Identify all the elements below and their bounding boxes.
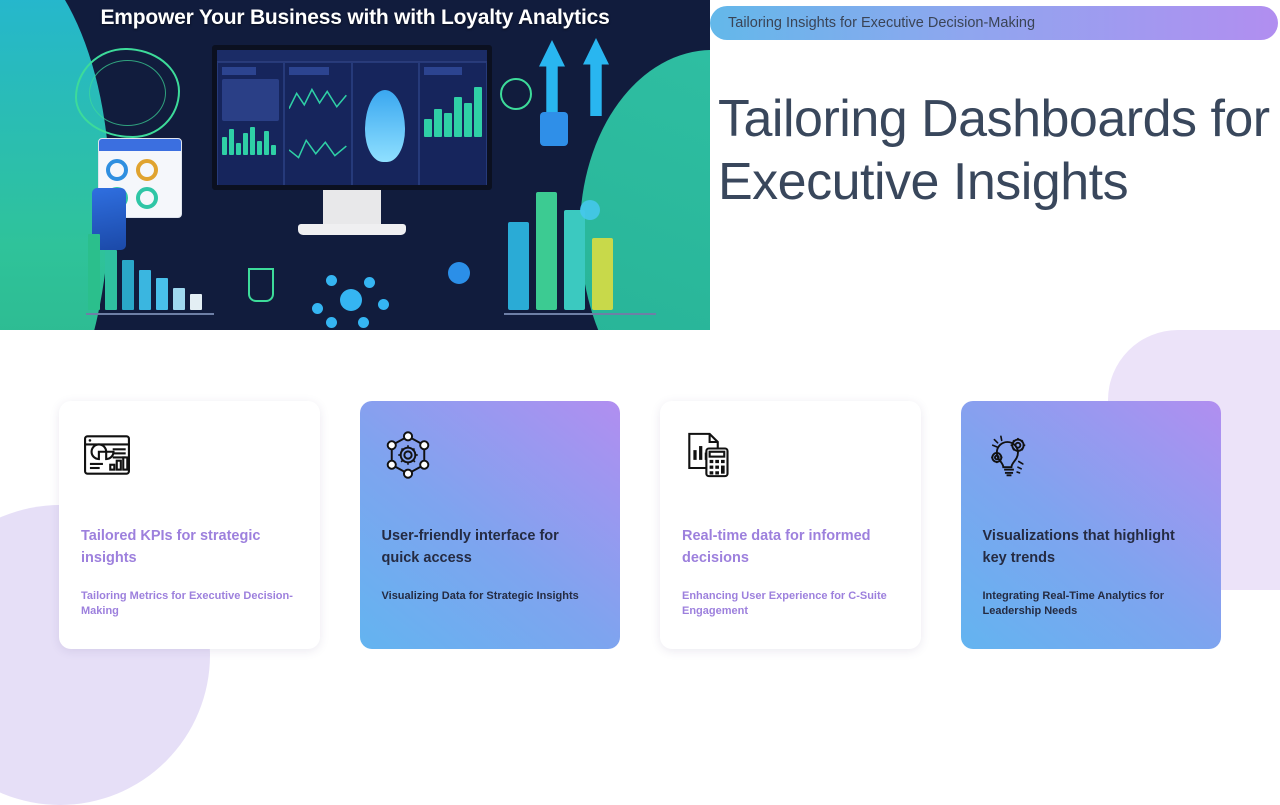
avatar-tile-graphic: [540, 112, 568, 146]
feature-card-3[interactable]: Real-time data for informed decisions En…: [660, 401, 921, 649]
arrow-up-graphic-1: [539, 40, 565, 118]
feature-card-2-subtitle: Visualizing Data for Strategic Insights: [382, 589, 599, 604]
dashboard-chart-window-icon: [81, 429, 133, 481]
flower-accent-graphic: [580, 200, 600, 220]
feature-card-4[interactable]: Visualizations that highlight key trends…: [961, 401, 1222, 649]
feature-card-4-subtitle: Integrating Real-Time Analytics for Lead…: [983, 589, 1200, 619]
hero-illustration: Empower Your Business with with Loyalty …: [0, 0, 710, 330]
feature-card-1[interactable]: Tailored KPIs for strategic insights Tai…: [59, 401, 320, 649]
circle-accent-graphic: [448, 262, 470, 284]
page-title: Tailoring Dashboards for Executive Insig…: [718, 88, 1278, 214]
brain-outline-graphic: [75, 48, 180, 138]
axis-line-right: [504, 313, 656, 315]
bar-chart-graphic-left: [88, 230, 202, 310]
feature-card-1-heading: Tailored KPIs for strategic insights: [81, 525, 298, 569]
feature-cards-row: Tailored KPIs for strategic insights Tai…: [59, 401, 1221, 649]
hero-headline: Empower Your Business with with Loyalty …: [0, 6, 710, 30]
feature-card-1-subtitle: Tailoring Metrics for Executive Decision…: [81, 589, 298, 619]
arrow-up-graphic-2: [583, 38, 609, 116]
lightbulb-gears-icon: [983, 429, 1035, 481]
document-calculator-icon: [682, 429, 734, 481]
monitor-mockup-graphic: [212, 45, 492, 235]
axis-line-left: [86, 313, 214, 315]
feature-card-2-heading: User-friendly interface for quick access: [382, 525, 599, 569]
eyebrow-badge: Tailoring Insights for Executive Decisio…: [710, 6, 1278, 40]
feature-card-4-heading: Visualizations that highlight key trends: [983, 525, 1200, 569]
plant-icon-graphic: [248, 268, 274, 302]
network-nodes-graphic: [312, 275, 392, 327]
feature-card-2[interactable]: User-friendly interface for quick access…: [360, 401, 621, 649]
virus-icon-graphic: [500, 78, 532, 110]
eyebrow-badge-label: Tailoring Insights for Executive Decisio…: [728, 15, 1035, 31]
feature-card-3-heading: Real-time data for informed decisions: [682, 525, 899, 569]
hexagon-network-gear-icon: [382, 429, 434, 481]
feature-card-3-subtitle: Enhancing User Experience for C-Suite En…: [682, 589, 899, 619]
